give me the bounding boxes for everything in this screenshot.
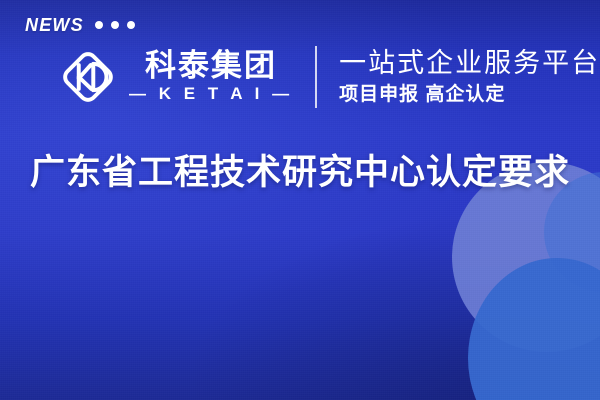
news-dot-icon	[127, 21, 135, 29]
news-dot-icon	[95, 21, 103, 29]
tagline-sub: 项目申报 高企认定	[339, 83, 600, 107]
news-banner: NEWS 科泰集团 — K E T A I —	[0, 0, 600, 400]
news-dots-icon	[95, 21, 135, 29]
news-label: NEWS	[25, 16, 84, 34]
brand-name-latin: — K E T A I —	[129, 83, 293, 104]
brand-lockup: 科泰集团 — K E T A I — 一站式企业服务平台 项目申报 高企认定	[55, 44, 600, 110]
news-eyebrow: NEWS	[25, 16, 135, 34]
page-title: 广东省工程技术研究中心认定要求	[0, 152, 600, 194]
news-dot-icon	[111, 21, 119, 29]
brand-name-cn: 科泰集团	[145, 50, 277, 82]
tagline-block: 一站式企业服务平台 项目申报 高企认定	[339, 48, 600, 107]
brand-wordmark: 科泰集团 — K E T A I —	[129, 50, 293, 104]
ketai-diamond-kd-logo-icon	[55, 44, 121, 110]
brand-divider	[315, 46, 317, 108]
tagline-main: 一站式企业服务平台	[339, 48, 600, 80]
decorative-circle-bright	[468, 258, 600, 400]
